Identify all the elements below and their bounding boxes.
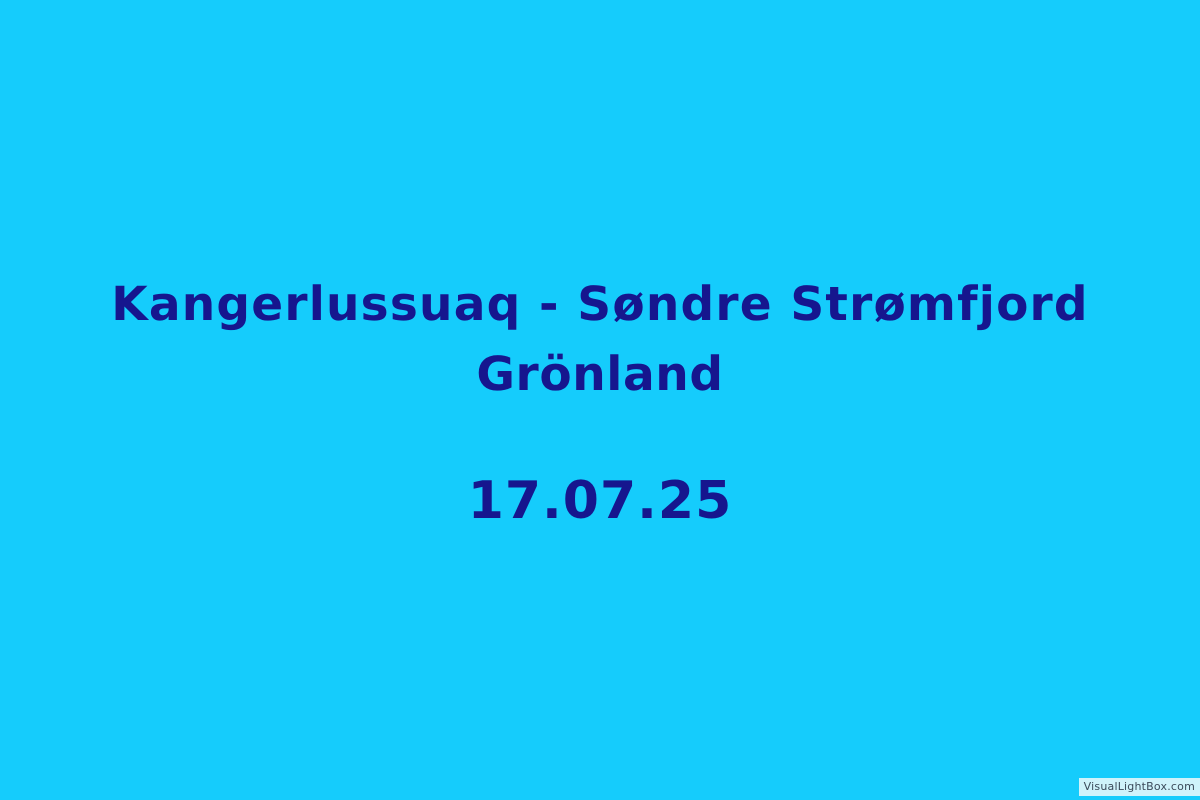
- watermark-label: VisualLightBox.com: [1079, 778, 1200, 796]
- photo-slide: Kangerlussuaq - Søndre Strømfjord Grönla…: [0, 0, 1200, 800]
- caption-date: 17.07.25: [468, 472, 733, 530]
- caption-title-line-1: Kangerlussuaq - Søndre Strømfjord: [111, 270, 1089, 340]
- caption-title-line-2: Grönland: [476, 340, 723, 410]
- caption-block: Kangerlussuaq - Søndre Strømfjord Grönla…: [0, 0, 1200, 800]
